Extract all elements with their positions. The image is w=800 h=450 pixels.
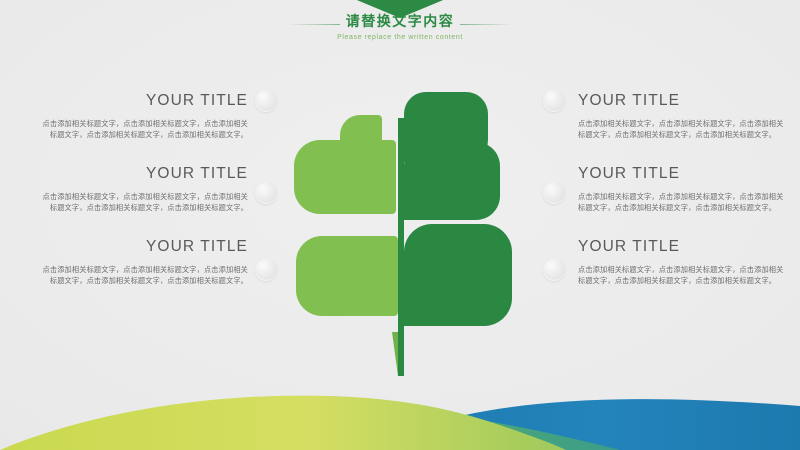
block-body: 点击添加相关标题文字，点击添加相关标题文字，点击添加相关标题文字，点击添加相关标… [578,191,788,214]
bottom-hills-decoration [0,370,800,450]
text-block-left-2[interactable]: YOUR TITLE 点击添加相关标题文字，点击添加相关标题文字，点击添加相关标… [38,165,248,214]
text-block-left-1[interactable]: YOUR TITLE 点击添加相关标题文字，点击添加相关标题文字，点击添加相关标… [38,92,248,141]
header-rule-left [288,24,340,25]
text-block-left-3[interactable]: YOUR TITLE 点击添加相关标题文字，点击添加相关标题文字，点击添加相关标… [38,238,248,287]
bullet-orb-left-2[interactable] [255,182,277,204]
bullet-orb-right-1[interactable] [543,90,565,112]
slide-canvas: 请替换文字内容 Please replace the written conte… [0,0,800,450]
bullet-orb-left-3[interactable] [255,259,277,281]
slide-header: 请替换文字内容 Please replace the written conte… [0,14,800,41]
block-title: YOUR TITLE [38,165,248,183]
block-body: 点击添加相关标题文字，点击添加相关标题文字，点击添加相关标题文字，点击添加相关标… [578,118,788,141]
block-body: 点击添加相关标题文字，点击添加相关标题文字，点击添加相关标题文字，点击添加相关标… [38,191,248,214]
text-block-right-1[interactable]: YOUR TITLE 点击添加相关标题文字，点击添加相关标题文字，点击添加相关标… [578,92,788,141]
block-title: YOUR TITLE [578,238,788,256]
page-title: 请替换文字内容 [0,14,800,31]
page-subtitle: Please replace the written content [0,34,800,41]
bullet-orb-right-2[interactable] [543,182,565,204]
text-block-right-2[interactable]: YOUR TITLE 点击添加相关标题文字，点击添加相关标题文字，点击添加相关标… [578,165,788,214]
block-body: 点击添加相关标题文字，点击添加相关标题文字，点击添加相关标题文字，点击添加相关标… [38,118,248,141]
block-body: 点击添加相关标题文字，点击添加相关标题文字，点击添加相关标题文字，点击添加相关标… [578,264,788,287]
leaf-tree-icon [286,82,516,382]
header-rule-right [460,24,512,25]
left-column: YOUR TITLE 点击添加相关标题文字，点击添加相关标题文字，点击添加相关标… [38,92,248,310]
bullet-orb-right-3[interactable] [543,259,565,281]
right-column: YOUR TITLE 点击添加相关标题文字，点击添加相关标题文字，点击添加相关标… [578,92,788,310]
block-title: YOUR TITLE [38,238,248,256]
bullet-orb-left-1[interactable] [255,90,277,112]
block-body: 点击添加相关标题文字，点击添加相关标题文字，点击添加相关标题文字，点击添加相关标… [38,264,248,287]
block-title: YOUR TITLE [38,92,248,110]
block-title: YOUR TITLE [578,92,788,110]
block-title: YOUR TITLE [578,165,788,183]
text-block-right-3[interactable]: YOUR TITLE 点击添加相关标题文字，点击添加相关标题文字，点击添加相关标… [578,238,788,287]
